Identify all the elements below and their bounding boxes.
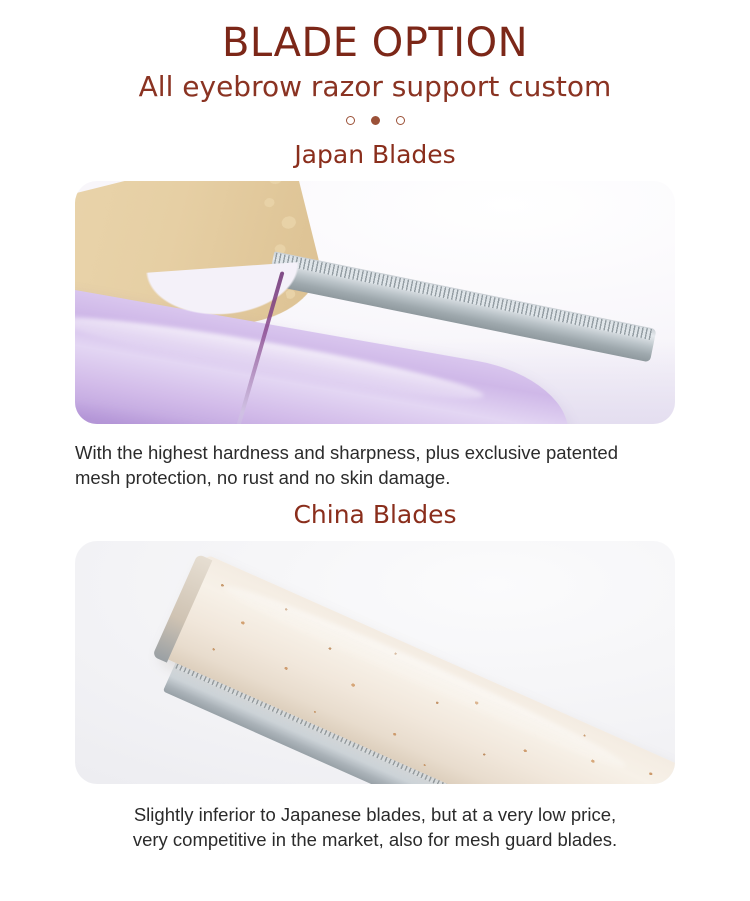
page-header: BLADE OPTION All eyebrow razor support c… [0, 0, 750, 128]
section-heading-china-blades: China Blades [0, 500, 750, 530]
product-photo-china-blades [75, 541, 675, 784]
pagination-dot-2-active[interactable] [371, 116, 380, 125]
caption-china-line-2: very competitive in the market, also for… [69, 827, 681, 852]
caption-japan-blades: With the highest hardness and sharpness,… [63, 440, 687, 490]
blade-option-page: BLADE OPTION All eyebrow razor support c… [0, 0, 750, 901]
section-heading-japan-blades: Japan Blades [0, 140, 750, 170]
caption-china-line-1: Slightly inferior to Japanese blades, bu… [69, 802, 681, 827]
razor-handle-wheat-straw [160, 554, 675, 784]
page-subtitle: All eyebrow razor support custom [0, 70, 750, 104]
page-title: BLADE OPTION [0, 20, 750, 66]
caption-china-blades: Slightly inferior to Japanese blades, bu… [69, 802, 681, 852]
caption-japan-line-1: With the highest hardness and sharpness,… [75, 440, 687, 465]
pagination-dot-1[interactable] [346, 116, 355, 125]
pagination-dot-3[interactable] [396, 116, 405, 125]
product-photo-japan-blades [75, 181, 675, 424]
caption-japan-line-2: mesh protection, no rust and no skin dam… [75, 465, 687, 490]
pagination-dots [0, 112, 750, 128]
